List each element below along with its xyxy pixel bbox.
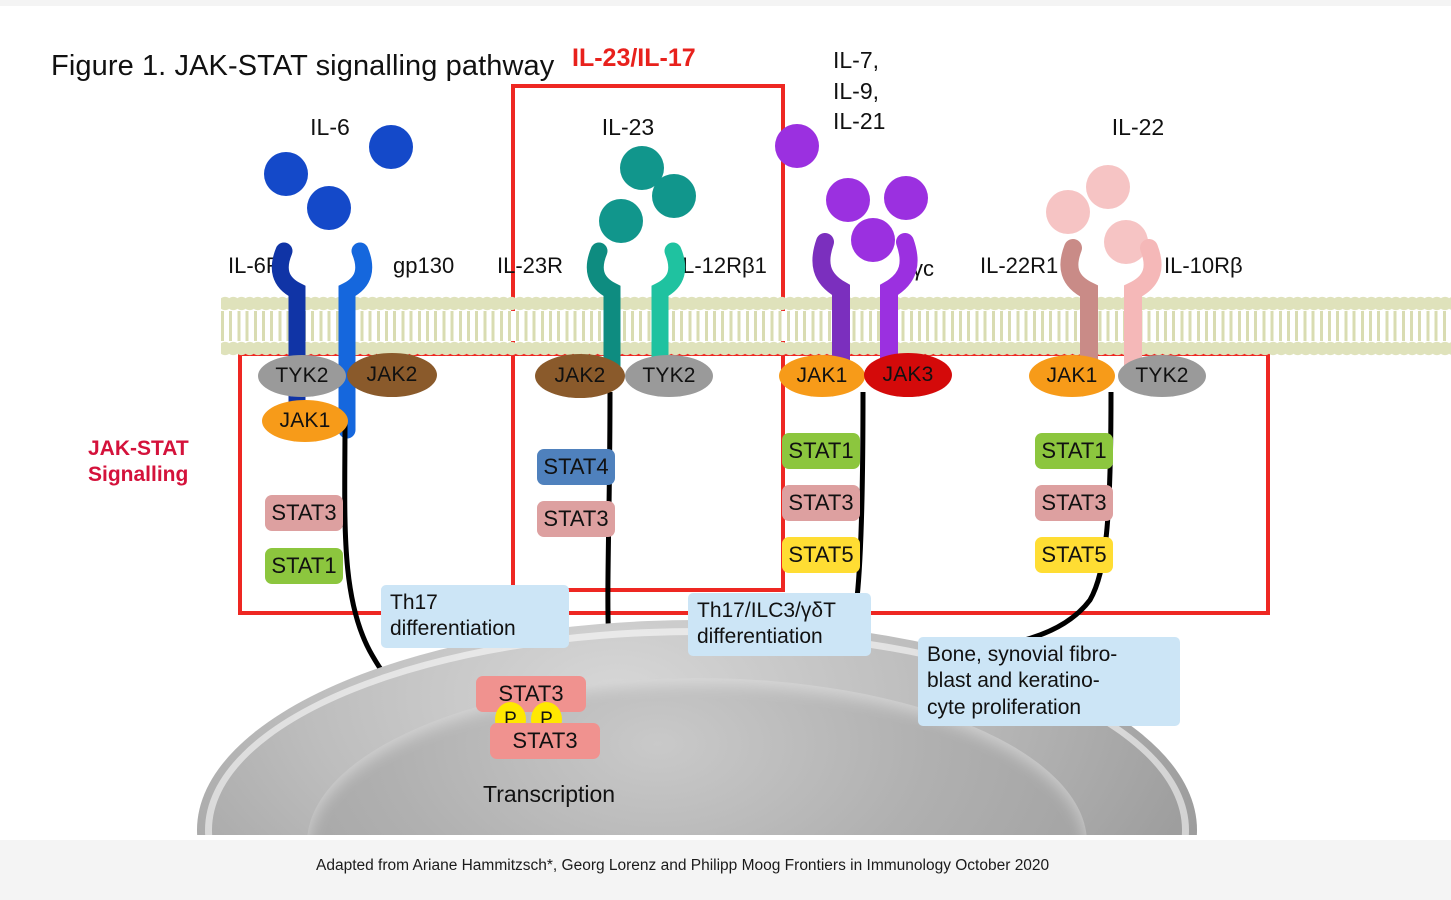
membrane-lipid-tails [221, 311, 1451, 341]
cytokine-blob-gammac-2 [826, 178, 870, 222]
page-title: Figure 1. JAK-STAT signalling pathway [51, 50, 554, 83]
transcription-label: Transcription [483, 781, 615, 808]
kinase-tyk2-il23: TYK2 [625, 355, 713, 397]
callout-bone-line1: Bone, synovial fibro- [927, 643, 1117, 666]
stat-chip-stat3-il6: STAT3 [265, 495, 343, 531]
cytokine-blob-gammac-1 [775, 124, 819, 168]
cytokine-blob-il23-3 [599, 199, 643, 243]
cytokine-label-il21: IL-21 [833, 108, 885, 134]
cytokine-blob-gammac-4 [851, 218, 895, 262]
kinase-jak3-gammac: JAK3 [864, 353, 952, 397]
cytokine-label-il6: IL-6 [285, 114, 375, 141]
cytokine-blob-gammac-3 [884, 176, 928, 220]
stat-chip-stat1-gammac: STAT1 [782, 433, 860, 469]
stat-chip-stat4-il23: STAT4 [537, 449, 615, 485]
jak-stat-label-line2: Signalling [88, 463, 188, 486]
callout-bone-proliferation: Bone, synovial fibro- blast and keratino… [918, 637, 1180, 726]
receptor-label-il22r1: IL-22R1 [980, 253, 1058, 279]
callout-bone-line2: blast and keratino- [927, 669, 1100, 692]
cytokine-blob-il22-2 [1046, 190, 1090, 234]
jak-stat-label-line1: JAK-STAT [88, 437, 189, 460]
cytokine-blob-il22-1 [1086, 165, 1130, 209]
receptor-label-il12rb1: IL-12Rβ1 [676, 253, 767, 279]
receptor-label-gp130: gp130 [393, 253, 454, 279]
callout-th17-ilc3-differentiation: Th17/ILC3/γδT differentiation [688, 593, 871, 656]
kinase-tyk2-il22: TYK2 [1118, 355, 1206, 397]
kinase-tyk2-il6: TYK2 [258, 355, 346, 397]
receptor-label-gammac: γc [912, 256, 934, 282]
cytokine-label-il9: IL-9, [833, 78, 879, 104]
stat-chip-stat3-gammac: STAT3 [782, 485, 860, 521]
kinase-jak1-il6: JAK1 [262, 400, 348, 442]
plasma-membrane [221, 296, 1451, 356]
kinase-jak1-il22: JAK1 [1029, 355, 1115, 397]
nucleus-stat3-lower: STAT3 [490, 723, 600, 759]
cytokine-blob-il23-2 [652, 174, 696, 218]
cytokine-label-il7: IL-7, [833, 47, 879, 73]
cytokine-blob-il22-3 [1104, 220, 1148, 264]
callout-th17-line2: differentiation [390, 617, 516, 640]
stat-chip-stat3-il22: STAT3 [1035, 485, 1113, 521]
kinase-jak2-il23: JAK2 [535, 354, 625, 398]
stat-chip-stat5-il22: STAT5 [1035, 537, 1113, 573]
callout-bone-line3: cyte proliferation [927, 696, 1081, 719]
stat-chip-stat1-il6: STAT1 [265, 548, 343, 584]
stat-chip-stat3-il23: STAT3 [537, 501, 615, 537]
cytokine-blob-il6-2 [264, 152, 308, 196]
stat-chip-stat1-il22: STAT1 [1035, 433, 1113, 469]
cytokine-label-il23: IL-23 [578, 114, 678, 141]
callout-th17-differentiation: Th17 differentiation [381, 585, 569, 648]
cytokine-label-gammac: IL-7, IL-9, IL-21 [833, 45, 913, 137]
cytokine-blob-il6-3 [307, 186, 351, 230]
cytokine-label-il22: IL-22 [1088, 114, 1188, 141]
kinase-jak2-il6: JAK2 [347, 353, 437, 397]
cytokine-blob-il6-1 [369, 125, 413, 169]
figure-canvas: Figure 1. JAK-STAT signalling pathway IL… [0, 0, 1451, 900]
callout-th17-line1: Th17 [390, 591, 438, 614]
receptor-label-il23r: IL-23R [497, 253, 563, 279]
figure-caption: Adapted from Ariane Hammitzsch*, Georg L… [316, 857, 1049, 875]
nucleus-stat3-upper: STAT3 [476, 676, 586, 712]
il23-il17-highlight-label: IL-23/IL-17 [572, 44, 696, 73]
callout-th17ilc3-line1: Th17/ILC3/γδT [697, 599, 836, 622]
receptor-label-il10rb: IL-10Rβ [1164, 253, 1243, 279]
stat-chip-stat5-gammac: STAT5 [782, 537, 860, 573]
receptor-label-il6r: IL-6R [228, 253, 282, 279]
callout-th17ilc3-line2: differentiation [697, 625, 823, 648]
kinase-jak1-gammac: JAK1 [779, 355, 865, 397]
membrane-heads-outer [221, 296, 1451, 311]
